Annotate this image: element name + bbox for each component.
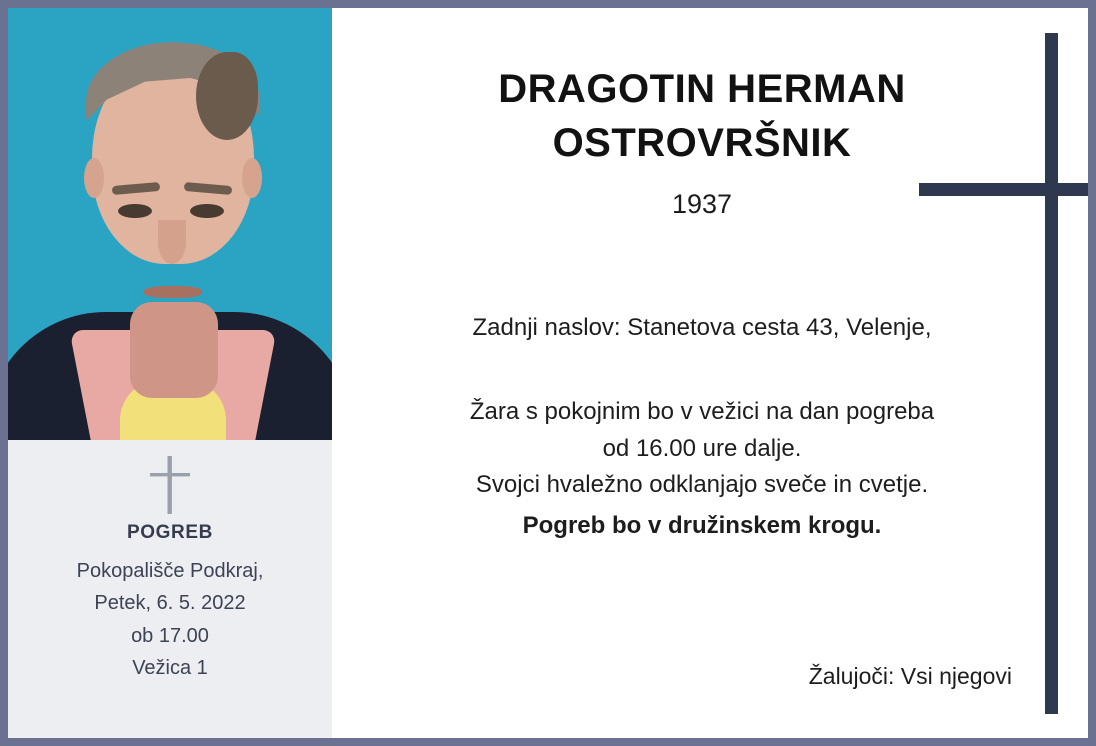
portrait-hair-side (196, 52, 258, 140)
funeral-date: Petek, 6. 5. 2022 (26, 587, 314, 619)
portrait-photo (8, 8, 332, 440)
cross-icon (143, 454, 197, 516)
latin-cross-crossbar (919, 183, 1088, 196)
portrait-neck (130, 302, 218, 398)
deceased-name-line2: OSTROVRŠNIK (360, 116, 1044, 170)
notice-canvas: POGREB Pokopališče Podkraj, Petek, 6. 5.… (8, 8, 1088, 738)
portrait-nose (158, 220, 186, 264)
deceased-name: DRAGOTIN HERMAN OSTROVRŠNIK (360, 62, 1044, 171)
memorial-notice-card: POGREB Pokopališče Podkraj, Petek, 6. 5.… (0, 0, 1096, 746)
funeral-time: ob 17.00 (26, 620, 314, 652)
portrait-mouth (144, 286, 202, 298)
portrait-eye-left (118, 204, 152, 218)
funeral-details-panel: POGREB Pokopališče Podkraj, Petek, 6. 5.… (8, 440, 332, 685)
flowers-note: Svojci hvaležno odklanjajo sveče in cvet… (360, 467, 1044, 503)
mourners-line: Žalujoči: Vsi njegovi (809, 663, 1012, 690)
private-funeral-note: Pogreb bo v družinskem krogu. (360, 508, 1044, 544)
ceremony-info: Žara s pokojnim bo v vežici na dan pogre… (360, 394, 1044, 544)
portrait-ear-left (84, 158, 104, 198)
body-text-block: Zadnji naslov: Stanetova cesta 43, Velen… (360, 312, 1044, 544)
last-address: Zadnji naslov: Stanetova cesta 43, Velen… (360, 312, 1044, 344)
portrait-ear-right (242, 158, 262, 198)
latin-cross-icon (1045, 33, 1058, 714)
urn-line-2: od 16.00 ure dalje. (360, 431, 1044, 467)
funeral-cemetery: Pokopališče Podkraj, (26, 555, 314, 587)
left-column: POGREB Pokopališče Podkraj, Petek, 6. 5.… (8, 8, 332, 738)
urn-line-1: Žara s pokojnim bo v vežici na dan pogre… (360, 394, 1044, 430)
deceased-name-line1: DRAGOTIN HERMAN (360, 62, 1044, 116)
main-content: DRAGOTIN HERMAN OSTROVRŠNIK 1937 Zadnji … (332, 8, 1088, 738)
funeral-chapel: Vežica 1 (26, 652, 314, 684)
portrait-eye-right (190, 204, 224, 218)
funeral-heading: POGREB (26, 522, 314, 544)
